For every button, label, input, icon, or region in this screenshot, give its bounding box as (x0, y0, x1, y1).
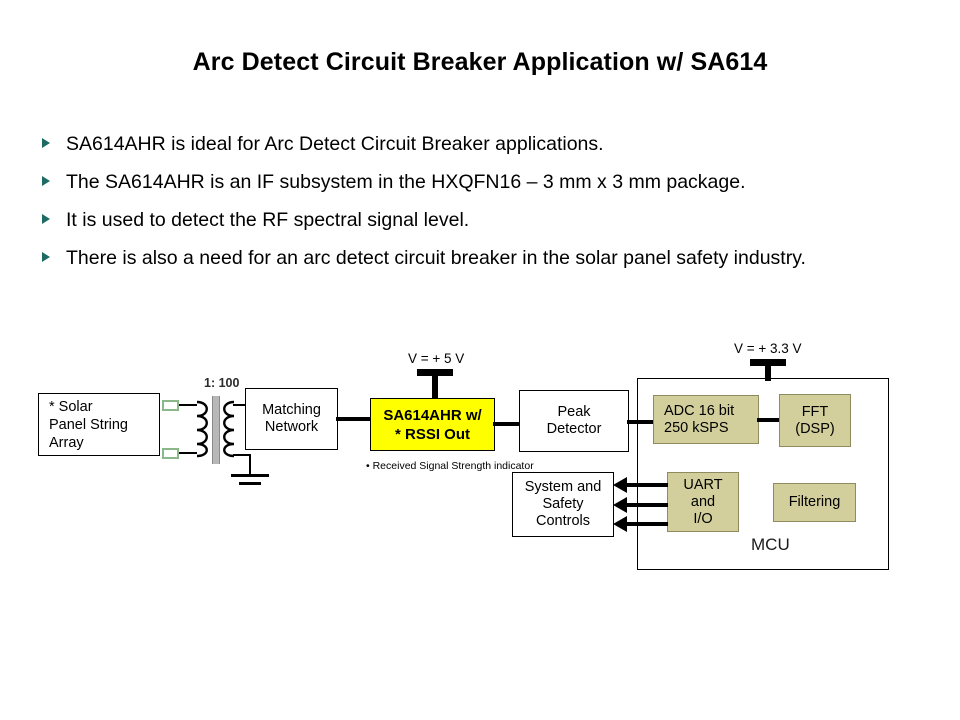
transformer-ratio-label: 1: 100 (204, 376, 239, 390)
controls-line-2: Safety (525, 496, 602, 513)
block-sa614ahr: SA614AHR w/ * RSSI Out (370, 398, 495, 451)
wire-adc-to-fft (757, 418, 781, 422)
solar-line-1: * Solar (49, 398, 128, 416)
solar-line-3: Array (49, 434, 128, 452)
peak-line-1: Peak (547, 404, 602, 421)
controls-line-3: Controls (525, 513, 602, 530)
solar-line-2: Panel String (49, 416, 128, 434)
mcu-label: MCU (751, 535, 790, 555)
slide-root: Arc Detect Circuit Breaker Application w… (0, 0, 960, 720)
adc-line-2: 250 kSPS (664, 420, 734, 437)
block-matching-network: Matching Network (245, 388, 338, 450)
wire-ground-stem (249, 454, 251, 476)
ground-bar-lower-icon (239, 482, 261, 485)
sa614-line-2: * RSSI Out (383, 425, 481, 444)
arrowhead-uart-to-controls-2-icon (613, 497, 627, 513)
page-title: Arc Detect Circuit Breaker Application w… (0, 48, 960, 77)
supply-33v-label: V = + 3.3 V (734, 341, 802, 356)
arrowhead-uart-to-controls-1-icon (613, 477, 627, 493)
controls-line-1: System and (525, 479, 602, 496)
terminal-top-icon (162, 400, 179, 411)
supply-5v-stem-icon (432, 369, 438, 399)
bullet-triangle-icon (42, 138, 50, 148)
block-peak-detector: Peak Detector (519, 390, 629, 452)
transformer-primary-coil-icon (192, 398, 212, 460)
arrowhead-uart-to-controls-3-icon (613, 516, 627, 532)
supply-5v-label: V = + 5 V (408, 351, 464, 366)
list-item: It is used to detect the RF spectral sig… (36, 208, 916, 232)
fft-line-2: (DSP) (795, 421, 834, 438)
matching-line-1: Matching (262, 402, 321, 419)
bullet-triangle-icon (42, 176, 50, 186)
bullet-text: The SA614AHR is an IF subsystem in the H… (66, 171, 746, 193)
list-item: SA614AHR is ideal for Arc Detect Circuit… (36, 132, 916, 156)
block-solar-panel-array: * Solar Panel String Array (38, 393, 160, 456)
uart-line-1: UART (683, 477, 722, 494)
bullet-text: There is also a need for an arc detect c… (66, 247, 806, 269)
filtering-label: Filtering (789, 494, 841, 511)
wire-uart-to-controls-3 (626, 522, 668, 526)
list-item: The SA614AHR is an IF subsystem in the H… (36, 170, 916, 194)
bullet-triangle-icon (42, 214, 50, 224)
block-adc: ADC 16 bit 250 kSPS (653, 395, 759, 444)
rssi-footnote: • Received Signal Strength indicator (366, 460, 541, 473)
peak-line-2: Detector (547, 421, 602, 438)
bullet-text: It is used to detect the RF spectral sig… (66, 209, 469, 231)
matching-line-2: Network (262, 419, 321, 436)
uart-line-3: I/O (683, 511, 722, 528)
transformer-secondary-coil-icon (219, 398, 239, 460)
block-fft-dsp: FFT (DSP) (779, 394, 851, 447)
list-item: There is also a need for an arc detect c… (36, 246, 916, 271)
wire-matching-to-sa614 (336, 417, 371, 421)
block-filtering: Filtering (773, 483, 856, 522)
bullet-text: SA614AHR is ideal for Arc Detect Circuit… (66, 133, 604, 155)
wire-uart-to-controls-2 (626, 503, 668, 507)
block-uart-io: UART and I/O (667, 472, 739, 532)
wire-sa614-to-peak (493, 422, 521, 426)
bullet-triangle-icon (42, 252, 50, 262)
fft-line-1: FFT (795, 404, 834, 421)
sa614-line-1: SA614AHR w/ (383, 406, 481, 425)
ground-bar-upper-icon (231, 474, 269, 477)
terminal-bottom-icon (162, 448, 179, 459)
wire-uart-to-controls-1 (626, 483, 668, 487)
bullet-list: SA614AHR is ideal for Arc Detect Circuit… (36, 132, 916, 285)
block-diagram: * Solar Panel String Array 1: 100 (0, 320, 960, 720)
uart-line-2: and (683, 494, 722, 511)
block-system-safety-controls: System and Safety Controls (512, 472, 614, 537)
adc-line-1: ADC 16 bit (664, 403, 734, 420)
